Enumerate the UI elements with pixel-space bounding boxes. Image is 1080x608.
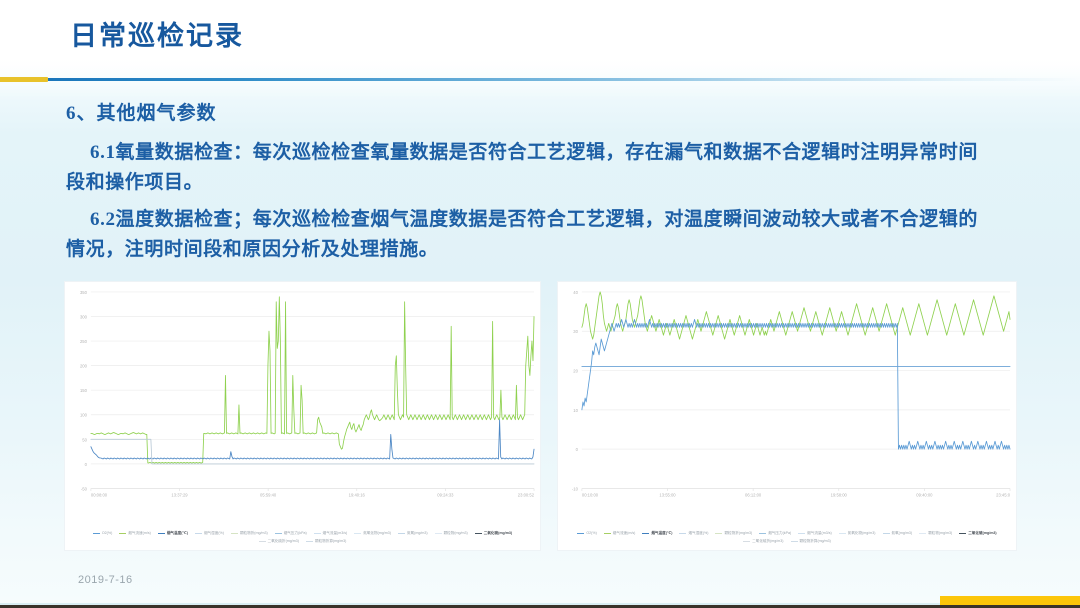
legend-swatch-icon (577, 533, 584, 534)
legend-swatch-icon (839, 533, 846, 534)
svg-text:150: 150 (80, 388, 88, 393)
svg-text:40: 40 (573, 290, 578, 295)
svg-text:19:58:00: 19:58:00 (831, 492, 848, 497)
legend-swatch-icon (759, 533, 766, 534)
legend-swatch-icon (798, 533, 805, 534)
svg-text:50: 50 (82, 437, 87, 442)
svg-text:-50: -50 (81, 486, 88, 491)
legend-item[interactable]: 烟气温度(℃) (158, 530, 188, 536)
legend-label: 烟气流量(m3/s) (807, 530, 832, 536)
legend-swatch-icon (883, 533, 890, 534)
legend-swatch-icon (791, 541, 798, 542)
chart-panel-right[interactable]: 403020100-1000:10:0013:55:0006:12:0019:5… (557, 281, 1017, 551)
legend-swatch-icon (195, 533, 202, 534)
svg-text:00:08:00: 00:08:00 (91, 492, 108, 497)
legend-label: 烟气湿度(%) (204, 530, 224, 536)
legend-item[interactable]: 氮氧化物(mg/m3) (839, 530, 876, 536)
legend-item[interactable]: 烟气湿度(%) (195, 530, 224, 536)
legend-swatch-icon (93, 533, 100, 534)
legend-label: 颗粒物折(mg/m3) (240, 530, 268, 536)
svg-text:350: 350 (80, 290, 88, 295)
section-heading: 6、其他烟气参数 (66, 98, 217, 125)
legend-swatch-icon (604, 533, 611, 534)
svg-text:23:45:0: 23:45:0 (996, 492, 1011, 497)
legend-label: O2(%) (102, 530, 112, 536)
legend-item[interactable]: 二氧化硫(mg/m3) (475, 530, 512, 536)
footer-date: 2019-7-16 (78, 574, 133, 586)
legend-item[interactable]: 氮氧化物(mg/m3) (354, 530, 391, 536)
header-divider (0, 76, 1080, 82)
legend-item[interactable]: 氮氧(mg/m3) (398, 530, 428, 536)
legend-item[interactable]: 二氧化硫折(mg/m3) (259, 538, 299, 544)
right-chart-legend: O2(%)烟气流速(m/s)烟气温度(℃)烟气湿度(%)颗粒物折(mg/m3)烟… (558, 530, 1016, 544)
legend-label: 烟气流量(m3/s) (323, 530, 348, 536)
legend-label: 烟气流速(m/s) (613, 530, 636, 536)
legend-item[interactable]: 颗粒物折算(mg/m3) (791, 538, 831, 544)
legend-label: 二氧化硫折(mg/m3) (268, 538, 299, 544)
legend-label: 颗粒物(mg/m3) (444, 530, 468, 536)
legend-item[interactable]: 烟气流量(m3/s) (314, 530, 348, 536)
legend-label: O2(%) (586, 530, 596, 536)
legend-label: 烟气流速(m/s) (128, 530, 151, 536)
svg-text:200: 200 (80, 364, 88, 369)
legend-label: 烟气湿度(%) (688, 530, 708, 536)
divider-yellow-segment (0, 77, 48, 82)
footer-yellow-bar (940, 596, 1080, 605)
legend-label: 氮氧(mg/m3) (892, 530, 913, 536)
legend-item[interactable]: 烟气湿度(%) (679, 530, 708, 536)
legend-swatch-icon (158, 533, 165, 534)
svg-text:100: 100 (80, 413, 88, 418)
legend-label: 烟气温度(℃) (651, 530, 672, 536)
svg-text:00:10:00: 00:10:00 (582, 492, 599, 497)
legend-label: 二氧化硫(mg/m3) (484, 530, 512, 536)
legend-label: 烟气压力(kPa) (768, 530, 791, 536)
svg-text:-10: -10 (572, 486, 579, 491)
legend-item[interactable]: 烟气压力(kPa) (759, 530, 791, 536)
paragraph-temperature-check: 6.2温度数据检查；每次巡检检查烟气温度数据是否符合工艺逻辑，对温度瞬间波动较大… (66, 205, 996, 265)
legend-swatch-icon (435, 533, 442, 534)
paragraph-oxygen-check: 6.1氧量数据检查：每次巡检检查氧量数据是否符合工艺逻辑，存在漏气和数据不合逻辑… (66, 138, 996, 198)
svg-text:0: 0 (85, 462, 88, 467)
legend-swatch-icon (475, 533, 482, 534)
legend-item[interactable]: O2(%) (577, 530, 596, 536)
legend-swatch-icon (119, 533, 126, 534)
legend-swatch-icon (642, 533, 649, 534)
legend-label: 二氧化硫折(mg/m3) (752, 538, 783, 544)
legend-swatch-icon (306, 541, 313, 542)
legend-item[interactable]: 颗粒物折算(mg/m3) (306, 538, 346, 544)
legend-item[interactable]: 烟气流速(m/s) (119, 530, 151, 536)
legend-item[interactable]: 二氧化硫(mg/m3) (959, 530, 996, 536)
legend-item[interactable]: 二氧化硫折(mg/m3) (743, 538, 783, 544)
svg-text:10: 10 (573, 408, 578, 413)
legend-label: 二氧化硫(mg/m3) (968, 530, 996, 536)
legend-swatch-icon (959, 533, 966, 534)
svg-text:250: 250 (80, 339, 88, 344)
divider-blue-segment (48, 78, 1080, 81)
svg-text:30: 30 (573, 329, 578, 334)
right-chart-plot: 403020100-1000:10:0013:55:0006:12:0019:5… (558, 282, 1016, 550)
legend-label: 颗粒物折算(mg/m3) (800, 538, 831, 544)
svg-text:0: 0 (576, 447, 579, 452)
legend-item[interactable]: 烟气压力(kPa) (275, 530, 307, 536)
legend-label: 颗粒物(mg/m3) (928, 530, 952, 536)
svg-text:05:59:40: 05:59:40 (260, 492, 277, 497)
left-chart-legend: O2(%)烟气流速(m/s)烟气温度(℃)烟气湿度(%)颗粒物折(mg/m3)烟… (65, 530, 540, 544)
legend-item[interactable]: 氮氧(mg/m3) (883, 530, 913, 536)
legend-swatch-icon (743, 541, 750, 542)
legend-swatch-icon (231, 533, 238, 534)
legend-label: 氮氧化物(mg/m3) (363, 530, 391, 536)
legend-item[interactable]: 颗粒物折(mg/m3) (715, 530, 752, 536)
legend-swatch-icon (679, 533, 686, 534)
legend-item[interactable]: 烟气流速(m/s) (604, 530, 636, 536)
svg-text:06:12:00: 06:12:00 (745, 492, 762, 497)
chart-panel-left[interactable]: 350300250200150100500-5000:08:0013:37:29… (64, 281, 541, 551)
svg-text:13:55:00: 13:55:00 (659, 492, 676, 497)
legend-label: 颗粒物折算(mg/m3) (315, 538, 346, 544)
legend-label: 烟气压力(kPa) (284, 530, 307, 536)
legend-label: 氮氧化物(mg/m3) (848, 530, 876, 536)
legend-swatch-icon (354, 533, 361, 534)
legend-item[interactable]: 颗粒物(mg/m3) (919, 530, 952, 536)
slide-root: 日常巡检记录 6、其他烟气参数 6.1氧量数据检查：每次巡检检查氧量数据是否符合… (0, 0, 1080, 608)
svg-text:20: 20 (573, 369, 578, 374)
legend-item[interactable]: 颗粒物(mg/m3) (435, 530, 468, 536)
legend-item[interactable]: 颗粒物折(mg/m3) (231, 530, 268, 536)
svg-text:13:37:29: 13:37:29 (171, 492, 188, 497)
page-title: 日常巡检记录 (70, 14, 244, 53)
legend-swatch-icon (314, 533, 321, 534)
legend-label: 氮氧(mg/m3) (407, 530, 428, 536)
legend-swatch-icon (919, 533, 926, 534)
svg-text:300: 300 (80, 314, 88, 319)
legend-swatch-icon (398, 533, 405, 534)
legend-label: 烟气温度(℃) (167, 530, 188, 536)
legend-item[interactable]: O2(%) (93, 530, 112, 536)
legend-swatch-icon (275, 533, 282, 534)
svg-text:09:40:00: 09:40:00 (916, 492, 933, 497)
legend-label: 颗粒物折(mg/m3) (724, 530, 752, 536)
legend-item[interactable]: 烟气流量(m3/s) (798, 530, 832, 536)
svg-text:09:24:33: 09:24:33 (437, 492, 454, 497)
legend-swatch-icon (259, 541, 266, 542)
svg-text:19:40:16: 19:40:16 (349, 492, 366, 497)
svg-text:23:00:52: 23:00:52 (518, 492, 535, 497)
legend-item[interactable]: 烟气温度(℃) (642, 530, 672, 536)
legend-swatch-icon (715, 533, 722, 534)
left-chart-plot: 350300250200150100500-5000:08:0013:37:29… (65, 282, 540, 550)
